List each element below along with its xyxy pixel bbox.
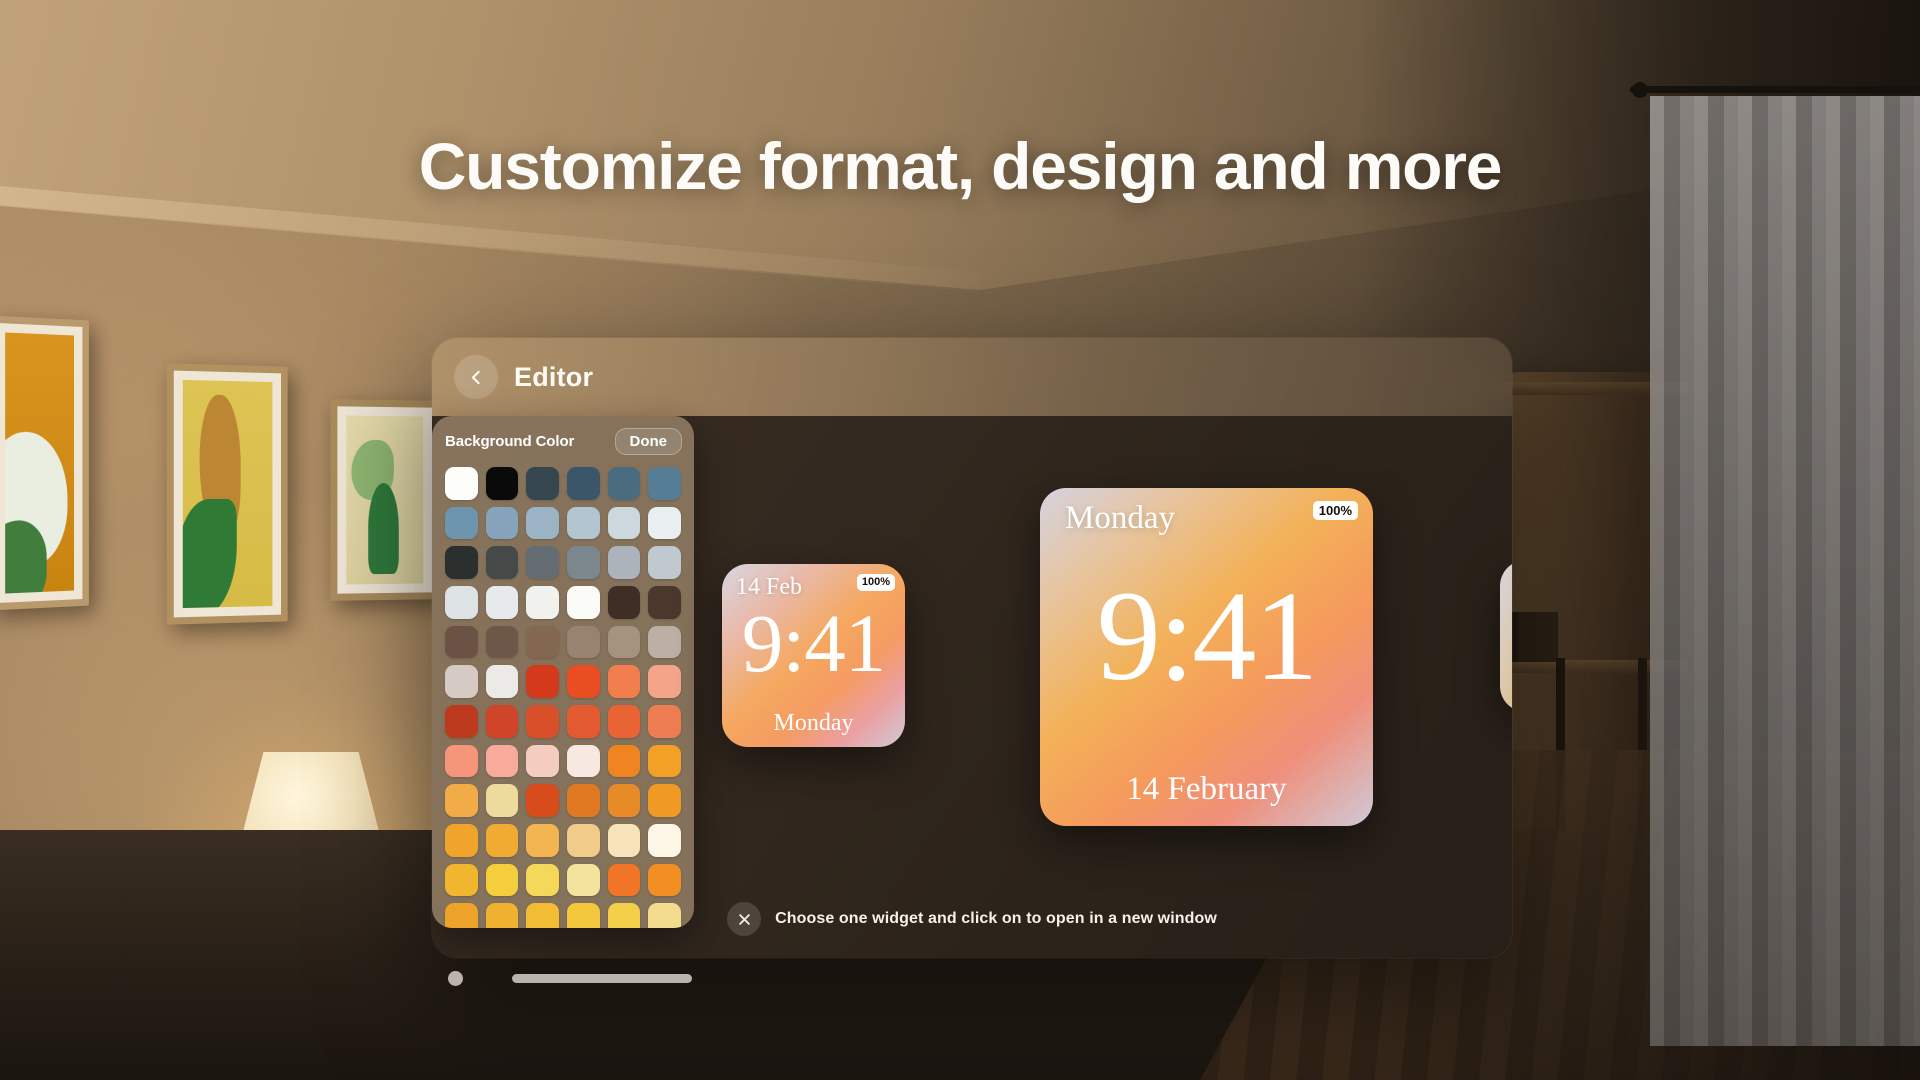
color-swatch[interactable] [608, 665, 641, 698]
battery-badge: 100% [1313, 501, 1358, 520]
color-swatch[interactable] [486, 824, 519, 857]
curtain-rod [1630, 86, 1920, 93]
color-swatch[interactable] [648, 665, 681, 698]
color-swatch[interactable] [486, 467, 519, 500]
color-swatch[interactable] [567, 705, 600, 738]
color-swatch[interactable] [608, 467, 641, 500]
color-swatch[interactable] [567, 784, 600, 817]
color-swatch[interactable] [526, 784, 559, 817]
color-swatch[interactable] [608, 745, 641, 778]
chevron-left-icon [468, 369, 485, 386]
color-swatch[interactable] [648, 745, 681, 778]
color-swatch[interactable] [567, 507, 600, 540]
color-swatch[interactable] [608, 546, 641, 579]
color-swatch[interactable] [648, 705, 681, 738]
color-swatch[interactable] [608, 824, 641, 857]
wall-art-frame-3 [330, 399, 438, 601]
color-swatch[interactable] [445, 665, 478, 698]
color-swatch[interactable] [567, 626, 600, 659]
color-swatch[interactable] [486, 665, 519, 698]
color-swatch[interactable] [486, 546, 519, 579]
color-swatch[interactable] [526, 705, 559, 738]
color-swatch[interactable] [526, 626, 559, 659]
color-swatch[interactable] [567, 467, 600, 500]
wall-art-frame-1 [0, 316, 89, 611]
back-button[interactable] [454, 355, 498, 399]
color-swatch[interactable] [608, 507, 641, 540]
color-swatch[interactable] [648, 586, 681, 619]
color-swatch[interactable] [445, 546, 478, 579]
widget-date-label: 14 February [1040, 771, 1373, 808]
wide-clock-widget[interactable]: 100% 14 Feb 9: [1500, 560, 1512, 712]
color-swatch[interactable] [486, 626, 519, 659]
color-swatch[interactable] [648, 784, 681, 817]
page-headline: Customize format, design and more [0, 128, 1920, 204]
color-swatch[interactable] [445, 745, 478, 778]
color-swatch[interactable] [445, 626, 478, 659]
color-swatch[interactable] [486, 705, 519, 738]
color-swatch[interactable] [608, 864, 641, 897]
frame-art [5, 332, 74, 593]
widget-time: 9:41 [1040, 572, 1373, 700]
color-swatch[interactable] [648, 824, 681, 857]
color-swatch[interactable] [445, 586, 478, 619]
color-swatch[interactable] [526, 824, 559, 857]
frame-art [346, 416, 423, 585]
curtain-rod-finial [1632, 82, 1648, 98]
color-panel-header: Background Color Done [432, 416, 694, 463]
color-swatch[interactable] [445, 824, 478, 857]
window-titlebar: Editor [432, 338, 1512, 416]
color-swatch[interactable] [567, 546, 600, 579]
curtain-shading [1650, 96, 1920, 1046]
color-swatch[interactable] [526, 546, 559, 579]
color-swatch[interactable] [608, 626, 641, 659]
color-swatch[interactable] [648, 864, 681, 897]
color-swatch[interactable] [526, 864, 559, 897]
window-body: Background Color Done 14 Feb 100% 9:41 M… [432, 416, 1512, 958]
color-swatch[interactable] [608, 784, 641, 817]
color-swatch[interactable] [608, 586, 641, 619]
hint-close-button[interactable] [727, 902, 761, 936]
color-swatch[interactable] [648, 546, 681, 579]
color-swatch[interactable] [567, 745, 600, 778]
screen: Customize format, design and more Editor… [0, 0, 1920, 1080]
color-swatch[interactable] [526, 745, 559, 778]
color-swatch[interactable] [526, 665, 559, 698]
hint-bar: Choose one widget and click on to open i… [432, 902, 1512, 936]
color-swatch[interactable] [486, 864, 519, 897]
color-swatch[interactable] [526, 467, 559, 500]
hint-text: Choose one widget and click on to open i… [775, 910, 1217, 928]
wall-art-frame-2 [167, 363, 288, 624]
color-swatch[interactable] [486, 784, 519, 817]
color-swatch[interactable] [445, 705, 478, 738]
color-swatch[interactable] [445, 784, 478, 817]
color-swatch[interactable] [486, 745, 519, 778]
color-swatch[interactable] [445, 467, 478, 500]
window-dot-handle[interactable] [448, 971, 463, 986]
color-swatch-grid [432, 463, 694, 928]
background-color-panel: Background Color Done [432, 416, 694, 928]
color-swatch[interactable] [608, 705, 641, 738]
small-clock-widget[interactable]: 14 Feb 100% 9:41 Monday [722, 564, 905, 747]
editor-window: Editor Background Color Done 14 Feb 100%… [432, 338, 1512, 958]
widget-day-label: Monday [722, 710, 905, 737]
color-swatch[interactable] [648, 507, 681, 540]
color-swatch[interactable] [445, 864, 478, 897]
color-swatch[interactable] [567, 864, 600, 897]
color-swatch[interactable] [486, 507, 519, 540]
close-icon [737, 912, 752, 927]
color-swatch[interactable] [648, 626, 681, 659]
large-clock-widget[interactable]: Monday 100% 9:41 14 February [1040, 488, 1373, 826]
window-title: Editor [514, 362, 593, 393]
window-resize-bar[interactable] [512, 974, 692, 983]
battery-badge: 100% [857, 574, 895, 591]
frame-art [183, 380, 273, 608]
color-swatch[interactable] [567, 665, 600, 698]
color-swatch[interactable] [567, 586, 600, 619]
widget-day-label: Monday [1065, 500, 1175, 537]
color-swatch[interactable] [526, 507, 559, 540]
color-swatch[interactable] [486, 586, 519, 619]
color-swatch[interactable] [526, 586, 559, 619]
widget-time: 9:41 [722, 602, 905, 685]
color-swatch[interactable] [445, 507, 478, 540]
done-button[interactable]: Done [615, 428, 683, 455]
color-swatch[interactable] [648, 467, 681, 500]
color-swatch[interactable] [567, 824, 600, 857]
color-panel-title: Background Color [445, 433, 574, 450]
